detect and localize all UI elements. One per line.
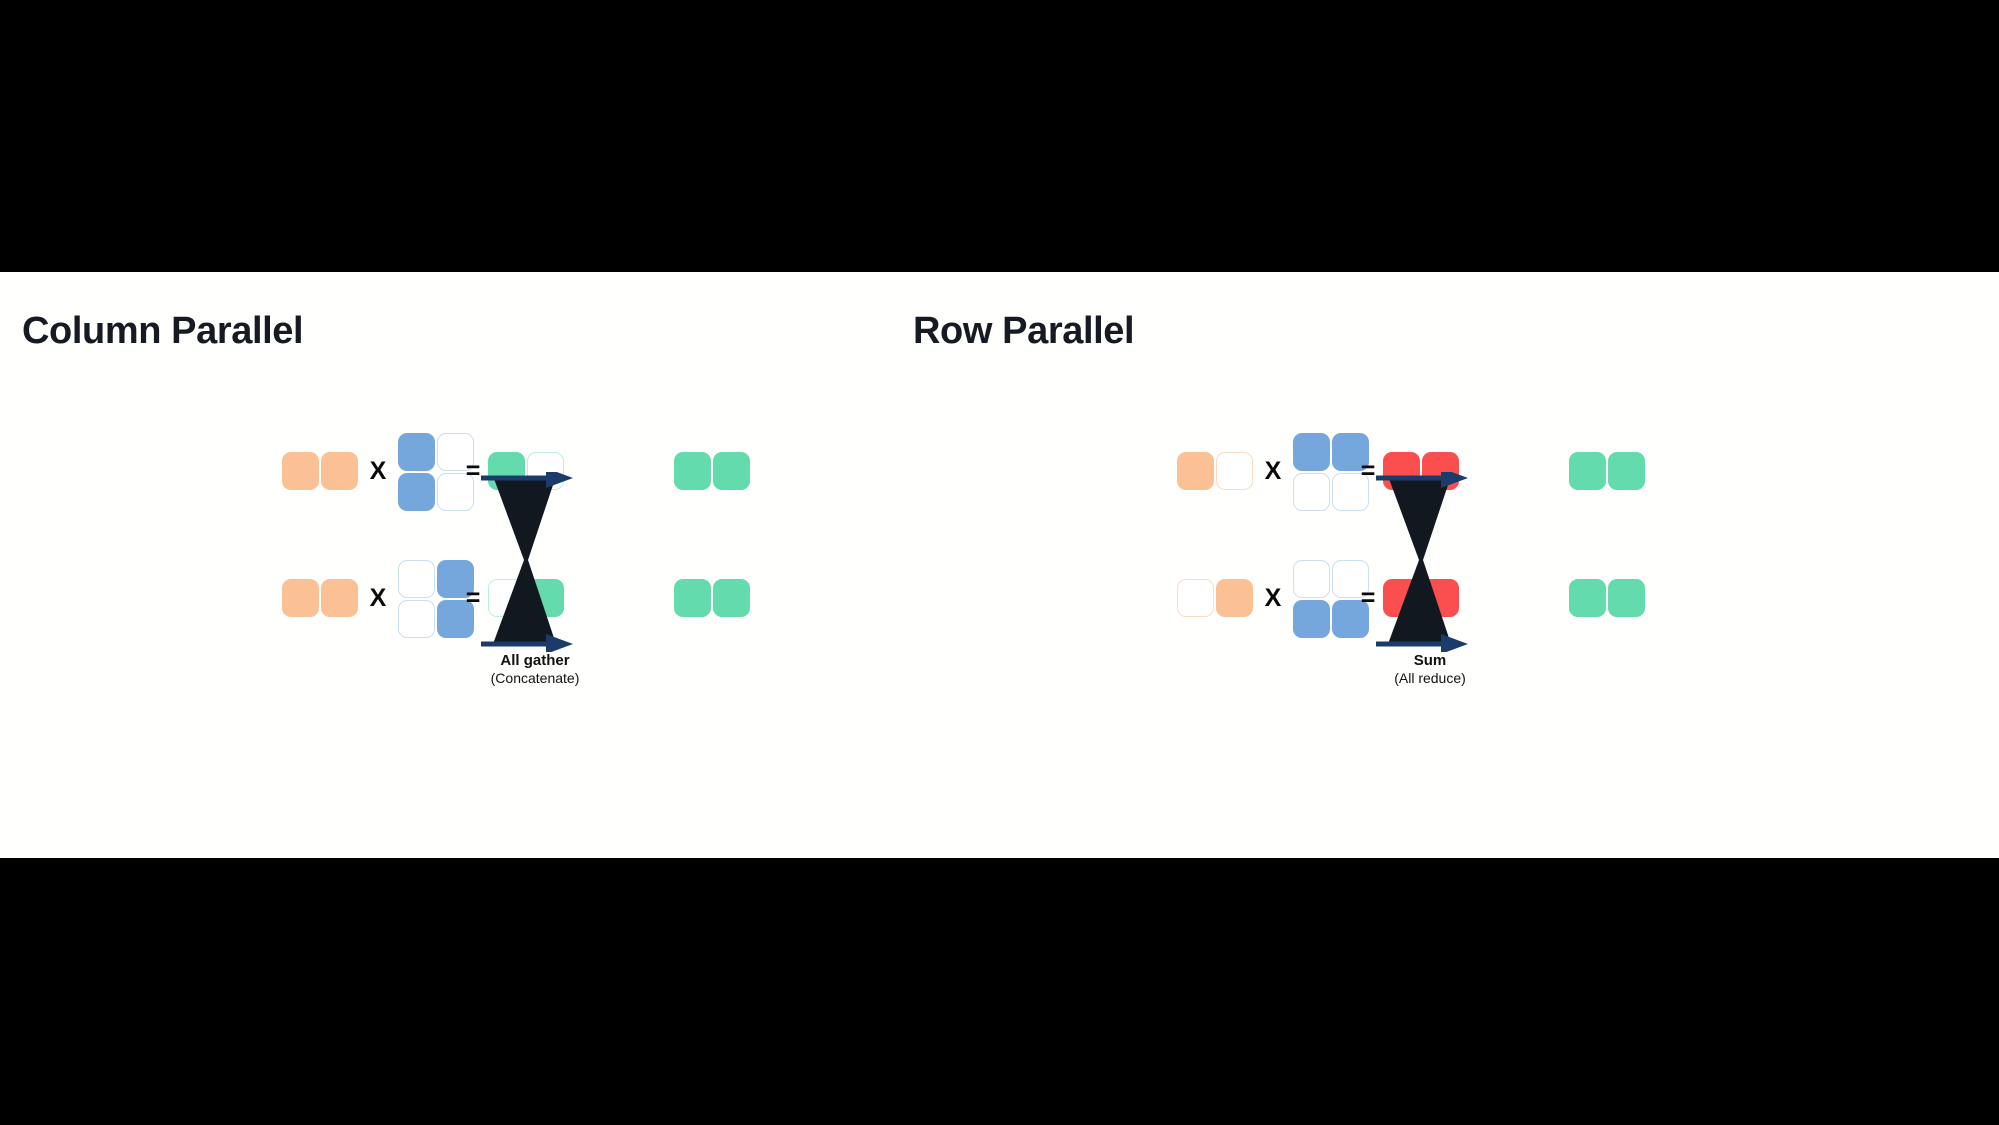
letterbox-bar-bottom (0, 858, 1999, 1125)
section-title-column-parallel: Column Parallel (22, 310, 303, 353)
cell-reduced-0 (1569, 452, 1606, 490)
reduced-vector-row-rank-1 (1569, 579, 1645, 617)
arrow-head-top (1441, 472, 1468, 488)
cell-reduced-0 (1569, 579, 1606, 617)
cell-w-00 (1293, 560, 1330, 598)
collective-op-name: All gather (430, 652, 640, 670)
collective-op-graphic-all-reduce (1373, 472, 1483, 652)
cell-w-10 (398, 600, 435, 638)
gathered-vector-col-rank-0 (674, 452, 750, 490)
slide-canvas: Column Parallel X = (0, 272, 1999, 858)
cell-gathered-1 (713, 579, 750, 617)
gathered-vector-col-rank-1 (674, 579, 750, 617)
collective-op-name: Sum (1325, 652, 1535, 670)
cell-w-00 (398, 433, 435, 471)
diagram-row-parallel: X = (1165, 272, 1725, 672)
cell-input-1 (321, 452, 358, 490)
cell-input-1 (1216, 579, 1253, 617)
cell-gathered-0 (674, 452, 711, 490)
arrow-head-top (546, 472, 573, 488)
bowtie-lower-triangle (1388, 560, 1451, 644)
input-vector-row-rank-1 (1177, 579, 1253, 617)
cell-gathered-0 (674, 579, 711, 617)
collective-op-label-all-gather: All gather (Concatenate) (430, 652, 640, 687)
section-title-row-parallel: Row Parallel (913, 310, 1134, 353)
arrow-head-bottom (546, 634, 573, 652)
collective-op-detail: (All reduce) (1325, 670, 1535, 687)
cell-input-0 (282, 579, 319, 617)
cell-w-10 (398, 473, 435, 511)
reduced-vector-row-rank-0 (1569, 452, 1645, 490)
bowtie-lower-triangle (493, 560, 556, 644)
cell-w-10 (1293, 600, 1330, 638)
bowtie-upper-triangle (1388, 476, 1451, 560)
collective-op-detail: (Concatenate) (430, 670, 640, 687)
cell-input-0 (1177, 452, 1214, 490)
arrow-head-bottom (1441, 634, 1468, 652)
cell-w-00 (1293, 433, 1330, 471)
cell-input-1 (321, 579, 358, 617)
letterbox-bar-top (0, 0, 1999, 272)
cell-reduced-1 (1608, 579, 1645, 617)
operator-multiply-col-rank-0: X (365, 452, 391, 490)
cell-w-00 (398, 560, 435, 598)
bowtie-upper-triangle (493, 476, 556, 560)
cell-input-0 (1177, 579, 1214, 617)
slide-stage: Column Parallel X = (0, 0, 1999, 1125)
cell-w-10 (1293, 473, 1330, 511)
diagram-column-parallel: X = (270, 272, 830, 672)
operator-multiply-col-rank-1: X (365, 579, 391, 617)
input-vector-col-rank-1 (282, 579, 358, 617)
cell-input-0 (282, 452, 319, 490)
cell-reduced-1 (1608, 452, 1645, 490)
cell-gathered-1 (713, 452, 750, 490)
input-vector-col-rank-0 (282, 452, 358, 490)
input-vector-row-rank-0 (1177, 452, 1253, 490)
collective-op-label-all-reduce: Sum (All reduce) (1325, 652, 1535, 687)
operator-multiply-row-rank-1: X (1260, 579, 1286, 617)
cell-input-1 (1216, 452, 1253, 490)
collective-op-graphic-all-gather (478, 472, 588, 652)
operator-multiply-row-rank-0: X (1260, 452, 1286, 490)
